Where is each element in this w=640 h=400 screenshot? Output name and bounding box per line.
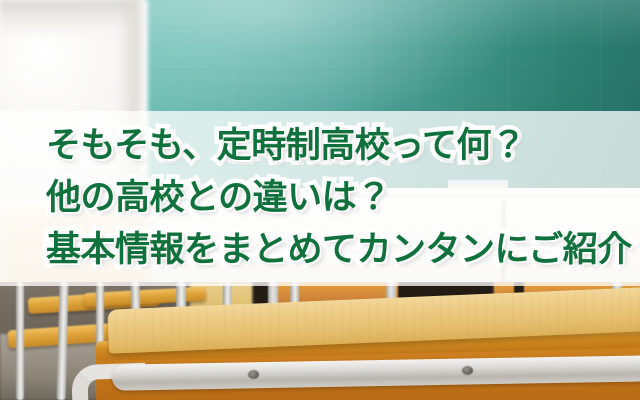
headline-line-2: 他の高校との違いは？ [46,172,626,224]
headline-line-3: 基本情報をまとめてカンタンにご紹介！ [46,224,626,276]
headline-line-1: そもそも、定時制高校って何？ [46,120,626,172]
foreground-desks-area [0,282,640,400]
article-eyecatch-banner: そもそも、定時制高校って何？ 他の高校との違いは？ 基本情報をまとめてカンタンに… [0,0,640,400]
frame-rivet [462,366,473,375]
headline-block: そもそも、定時制高校って何？ 他の高校との違いは？ 基本情報をまとめてカンタンに… [46,120,626,276]
chair-leg [16,282,24,400]
frame-rivet [248,370,259,379]
